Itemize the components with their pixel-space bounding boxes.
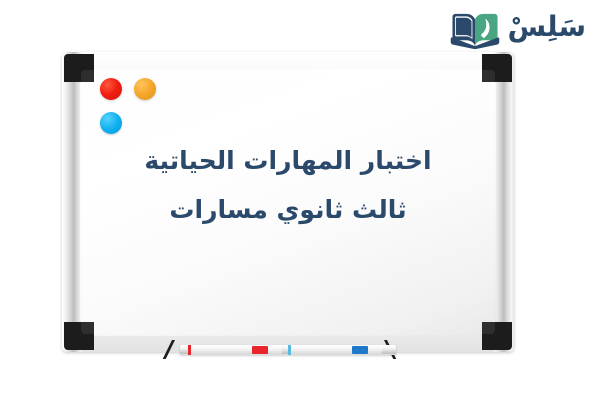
pen-tray xyxy=(172,340,404,362)
magnet-red-icon[interactable] xyxy=(100,78,122,100)
marker-red-tip xyxy=(188,345,191,355)
magnet-blue-icon[interactable] xyxy=(100,112,122,134)
corner-bottom-left xyxy=(64,322,94,350)
brand-logo: سَلِسْ xyxy=(449,6,586,52)
whiteboard-heading-line-2: ثالث ثانوي مسارات xyxy=(88,197,488,222)
magnet-group xyxy=(100,78,180,140)
marker-blue-tip xyxy=(288,345,291,355)
whiteboard-heading-line-1: اختبار المهارات الحياتية xyxy=(88,148,488,173)
corner-bottom-right xyxy=(482,322,512,350)
corner-top-left xyxy=(64,54,94,82)
brand-name: سَلِسْ xyxy=(507,13,586,45)
whiteboard: اختبار المهارات الحياتية ثالث ثانوي مسار… xyxy=(62,52,514,352)
corner-top-right xyxy=(482,54,512,82)
marker-red-cap xyxy=(252,346,268,354)
whiteboard-text-block: اختبار المهارات الحياتية ثالث ثانوي مسار… xyxy=(62,148,514,222)
marker-blue[interactable] xyxy=(290,346,382,354)
marker-blue-cap xyxy=(352,346,368,354)
open-book-with-pen-icon xyxy=(449,7,501,51)
marker-red[interactable] xyxy=(190,346,282,354)
magnet-orange-icon[interactable] xyxy=(134,78,156,100)
